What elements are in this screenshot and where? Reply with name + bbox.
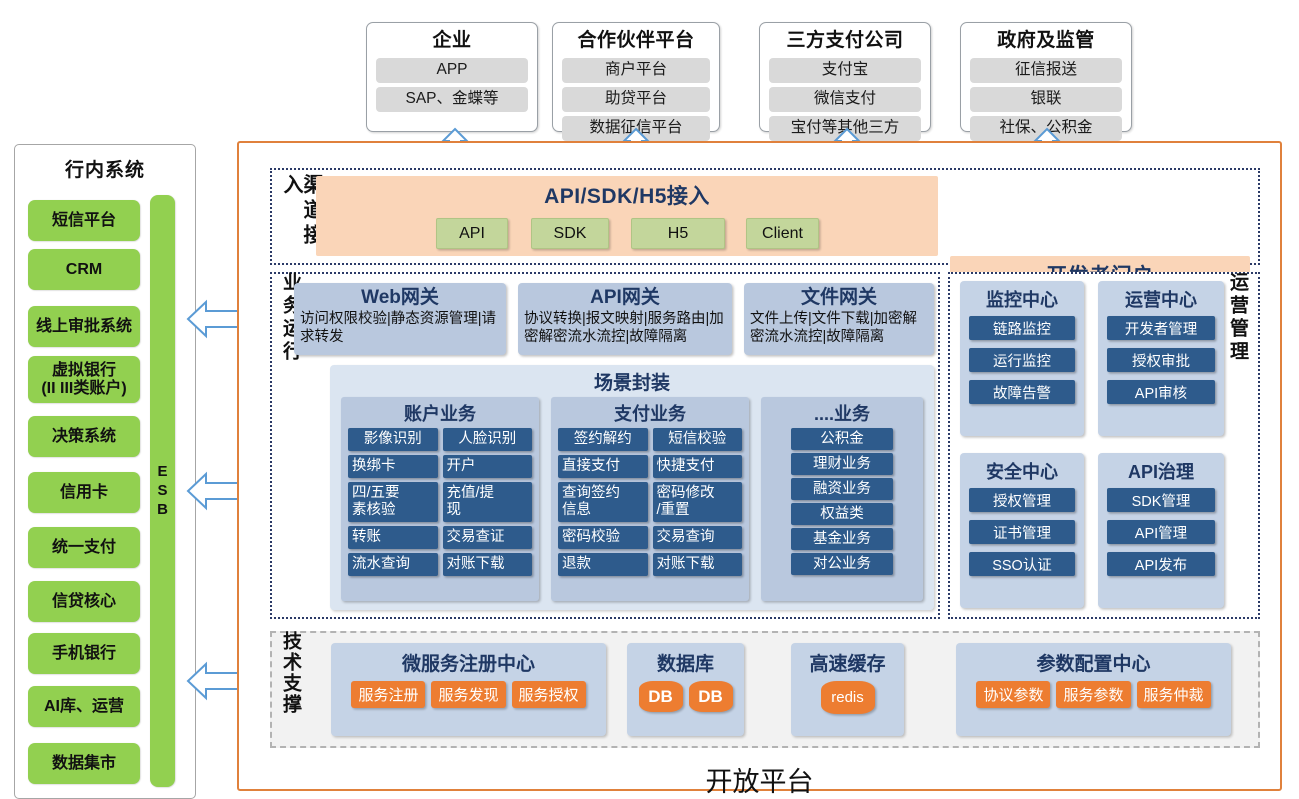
database-cylinder-icon[interactable]: DB — [689, 681, 733, 712]
external-card-title: 企业 — [432, 28, 471, 54]
gateway-file[interactable]: 文件网关 文件上传|文件下载|加密解密流水流控|故障隔离 — [744, 283, 934, 355]
scene-item[interactable]: 换绑卡 — [348, 455, 438, 478]
bank-system-label: CRM — [66, 261, 102, 279]
scene-item[interactable]: 权益类 — [791, 503, 893, 525]
scene-group-title: 账户业务 — [341, 397, 539, 428]
scene-group-other-business: ....业务 公积金 理财业务 融资业务 权益类 基金业务 对公业务 — [761, 397, 923, 601]
bank-system-label: 短信平台 — [52, 212, 116, 230]
external-card-item: SAP、金蝶等 — [376, 87, 528, 112]
scene-item[interactable]: 签约解约 — [558, 428, 648, 451]
tech-card-microservice-registry: 微服务注册中心 服务注册 服务发现 服务授权 — [331, 643, 606, 736]
tech-card-database: 数据库 DB DB — [627, 643, 744, 736]
bank-systems-title: 行内系统 — [15, 155, 195, 182]
scene-item[interactable]: 密码修改 /重置 — [653, 482, 743, 522]
open-platform-caption: 开放平台 — [237, 760, 1282, 799]
bank-system-data-mart[interactable]: 数据集市 — [28, 743, 140, 784]
tech-card-title: 参数配置中心 — [1036, 643, 1150, 681]
ops-chip[interactable]: SSO认证 — [969, 552, 1076, 576]
scene-group-title: ....业务 — [761, 397, 923, 428]
ops-chip[interactable]: API审核 — [1107, 380, 1215, 404]
scene-item[interactable]: 对公业务 — [791, 553, 893, 575]
gateway-desc: 访问权限校验|静态资源管理|请求转发 — [300, 310, 500, 346]
bank-system-label: 手机银行 — [52, 645, 116, 663]
bank-system-label: 统一支付 — [52, 539, 116, 557]
database-cylinder-icon[interactable]: DB — [639, 681, 683, 712]
ops-chip[interactable]: 授权审批 — [1107, 348, 1215, 372]
ops-chip[interactable]: 授权管理 — [969, 488, 1076, 512]
redis-cylinder-icon[interactable]: redis — [821, 681, 875, 714]
chip-sdk[interactable]: SDK — [531, 218, 609, 249]
external-card-item: 征信报送 — [970, 58, 1122, 83]
gateway-title: API网关 — [524, 286, 726, 310]
scene-group-payment-business: 支付业务 签约解约 直接支付 查询签约 信息 密码校验 退款 短信校验 快捷支付… — [551, 397, 749, 601]
chip-label: SDK — [554, 225, 587, 243]
tech-chip[interactable]: 协议参数 — [976, 681, 1050, 708]
tech-chip[interactable]: 服务仲裁 — [1137, 681, 1211, 708]
scene-group-account-business: 账户业务 影像识别 换绑卡 四/五要 素核验 转账 流水查询 人脸识别 开户 充… — [341, 397, 539, 601]
bank-system-crm[interactable]: CRM — [28, 249, 140, 290]
bank-system-label: 信贷核心 — [52, 593, 116, 611]
ops-chip[interactable]: API管理 — [1107, 520, 1215, 544]
bank-system-credit-core[interactable]: 信贷核心 — [28, 581, 140, 622]
tech-card-title: 数据库 — [657, 643, 714, 681]
tech-chip[interactable]: 服务注册 — [351, 681, 425, 708]
gateway-title: Web网关 — [300, 286, 500, 310]
scene-item[interactable]: 查询签约 信息 — [558, 482, 648, 522]
ops-card-title: 运营中心 — [1125, 281, 1197, 316]
scene-item[interactable]: 快捷支付 — [653, 455, 743, 478]
tech-card-cache: 高速缓存 redis — [791, 643, 904, 736]
external-card-title: 合作伙伴平台 — [577, 28, 694, 54]
external-card-item: APP — [376, 58, 528, 83]
ops-chip[interactable]: 开发者管理 — [1107, 316, 1215, 340]
operation-management-side-label: 运营管理 — [1228, 272, 1247, 619]
scene-group-title: 支付业务 — [551, 397, 749, 428]
chip-h5[interactable]: H5 — [631, 218, 725, 249]
bank-system-label: 数据集市 — [52, 755, 116, 773]
scene-item[interactable]: 人脸识别 — [443, 428, 533, 451]
channel-access-side-label: 渠道接入 — [281, 174, 321, 262]
scene-item[interactable]: 理财业务 — [791, 453, 893, 475]
external-card-title: 政府及监管 — [997, 28, 1095, 54]
scene-item[interactable]: 交易查证 — [443, 526, 533, 549]
scene-item[interactable]: 转账 — [348, 526, 438, 549]
chip-client[interactable]: Client — [746, 218, 819, 249]
chip-label: API — [459, 225, 485, 243]
scene-item[interactable]: 公积金 — [791, 428, 893, 450]
scene-item[interactable]: 对账下载 — [653, 553, 743, 576]
esb-label: ESB — [154, 463, 171, 520]
esb-bus: ESB — [150, 195, 175, 787]
scene-item[interactable]: 流水查询 — [348, 553, 438, 576]
bank-system-label: 虚拟银行 (II III类账户) — [41, 362, 126, 398]
ops-card-monitoring-center: 监控中心 链路监控 运行监控 故障告警 — [960, 281, 1084, 436]
scene-item[interactable]: 退款 — [558, 553, 648, 576]
scene-item[interactable]: 基金业务 — [791, 528, 893, 550]
tech-chip[interactable]: 服务发现 — [431, 681, 505, 708]
ops-chip[interactable]: 运行监控 — [969, 348, 1076, 372]
gateway-desc: 文件上传|文件下载|加密解密流水流控|故障隔离 — [750, 310, 928, 346]
architecture-diagram: 企业 APP SAP、金蝶等 合作伙伴平台 商户平台 助贷平台 数据征信平台 三… — [0, 0, 1299, 799]
external-card-title: 三方支付公司 — [786, 28, 903, 54]
external-card-government-regulator: 政府及监管 征信报送 银联 社保、公积金 — [960, 22, 1132, 132]
gateway-web[interactable]: Web网关 访问权限校验|静态资源管理|请求转发 — [294, 283, 506, 355]
tech-card-title: 微服务注册中心 — [402, 643, 535, 681]
external-card-partner-platform: 合作伙伴平台 商户平台 助贷平台 数据征信平台 — [552, 22, 720, 132]
ops-chip[interactable]: SDK管理 — [1107, 488, 1215, 512]
scene-item[interactable]: 交易查询 — [653, 526, 743, 549]
scene-item[interactable]: 直接支付 — [558, 455, 648, 478]
scene-item[interactable]: 对账下载 — [443, 553, 533, 576]
gateway-api[interactable]: API网关 协议转换|报文映射|服务路由|加密解密流水流控|故障隔离 — [518, 283, 732, 355]
gateway-desc: 协议转换|报文映射|服务路由|加密解密流水流控|故障隔离 — [524, 310, 726, 346]
ops-chip[interactable]: 链路监控 — [969, 316, 1076, 340]
ops-card-security-center: 安全中心 授权管理 证书管理 SSO认证 — [960, 453, 1084, 608]
external-card-enterprise: 企业 APP SAP、金蝶等 — [366, 22, 538, 132]
tech-card-title: 高速缓存 — [809, 643, 885, 681]
bank-system-label: AI库、运营 — [44, 698, 124, 716]
bank-system-virtual-bank[interactable]: 虚拟银行 (II III类账户) — [28, 356, 140, 403]
tech-chip[interactable]: 服务参数 — [1056, 681, 1130, 708]
tech-support-side-label: 技术支撑 — [281, 631, 300, 748]
gateway-title: 文件网关 — [750, 286, 928, 310]
tech-chip[interactable]: 服务授权 — [512, 681, 586, 708]
scene-item[interactable]: 融资业务 — [791, 478, 893, 500]
ops-card-title: API治理 — [1128, 453, 1194, 488]
external-card-item: 微信支付 — [769, 87, 921, 112]
external-card-item: 银联 — [970, 87, 1122, 112]
scene-packaging-title: 场景封装 — [330, 365, 934, 395]
bank-system-label: 决策系统 — [52, 428, 116, 446]
chip-label: H5 — [668, 225, 688, 243]
scene-item[interactable]: 密码校验 — [558, 526, 648, 549]
bank-system-label: 线上审批系统 — [36, 318, 132, 336]
scene-item[interactable]: 四/五要 素核验 — [348, 482, 438, 522]
bank-system-unified-payment[interactable]: 统一支付 — [28, 527, 140, 568]
external-card-third-party-payment: 三方支付公司 支付宝 微信支付 宝付等其他三方 — [759, 22, 931, 132]
scene-item[interactable]: 影像识别 — [348, 428, 438, 451]
scene-item[interactable]: 短信校验 — [653, 428, 743, 451]
ops-chip[interactable]: API发布 — [1107, 552, 1215, 576]
scene-item[interactable]: 充值/提 现 — [443, 482, 533, 522]
external-card-item: 商户平台 — [562, 58, 710, 83]
ops-card-api-governance: API治理 SDK管理 API管理 API发布 — [1098, 453, 1224, 608]
ops-card-title: 安全中心 — [986, 453, 1058, 488]
chip-label: Client — [762, 225, 803, 243]
external-card-item: 助贷平台 — [562, 87, 710, 112]
chip-api[interactable]: API — [436, 218, 508, 249]
bank-system-label: 信用卡 — [60, 484, 108, 502]
tech-card-config-center: 参数配置中心 协议参数 服务参数 服务仲裁 — [956, 643, 1231, 736]
api-sdk-h5-panel: API/SDK/H5接入 API SDK H5 Client — [316, 176, 938, 256]
ops-chip[interactable]: 证书管理 — [969, 520, 1076, 544]
scene-item[interactable]: 开户 — [443, 455, 533, 478]
bank-system-ai-operations[interactable]: AI库、运营 — [28, 686, 140, 727]
bank-system-online-approval[interactable]: 线上审批系统 — [28, 306, 140, 347]
bank-system-decision[interactable]: 决策系统 — [28, 416, 140, 457]
ops-chip[interactable]: 故障告警 — [969, 380, 1076, 404]
ops-card-title: 监控中心 — [986, 281, 1058, 316]
ops-card-operation-center: 运营中心 开发者管理 授权审批 API审核 — [1098, 281, 1224, 436]
bank-system-mobile-bank[interactable]: 手机银行 — [28, 633, 140, 674]
bank-system-credit-card[interactable]: 信用卡 — [28, 472, 140, 513]
external-card-item: 支付宝 — [769, 58, 921, 83]
api-sdk-h5-title: API/SDK/H5接入 — [316, 176, 938, 210]
bank-system-sms-platform[interactable]: 短信平台 — [28, 200, 140, 241]
